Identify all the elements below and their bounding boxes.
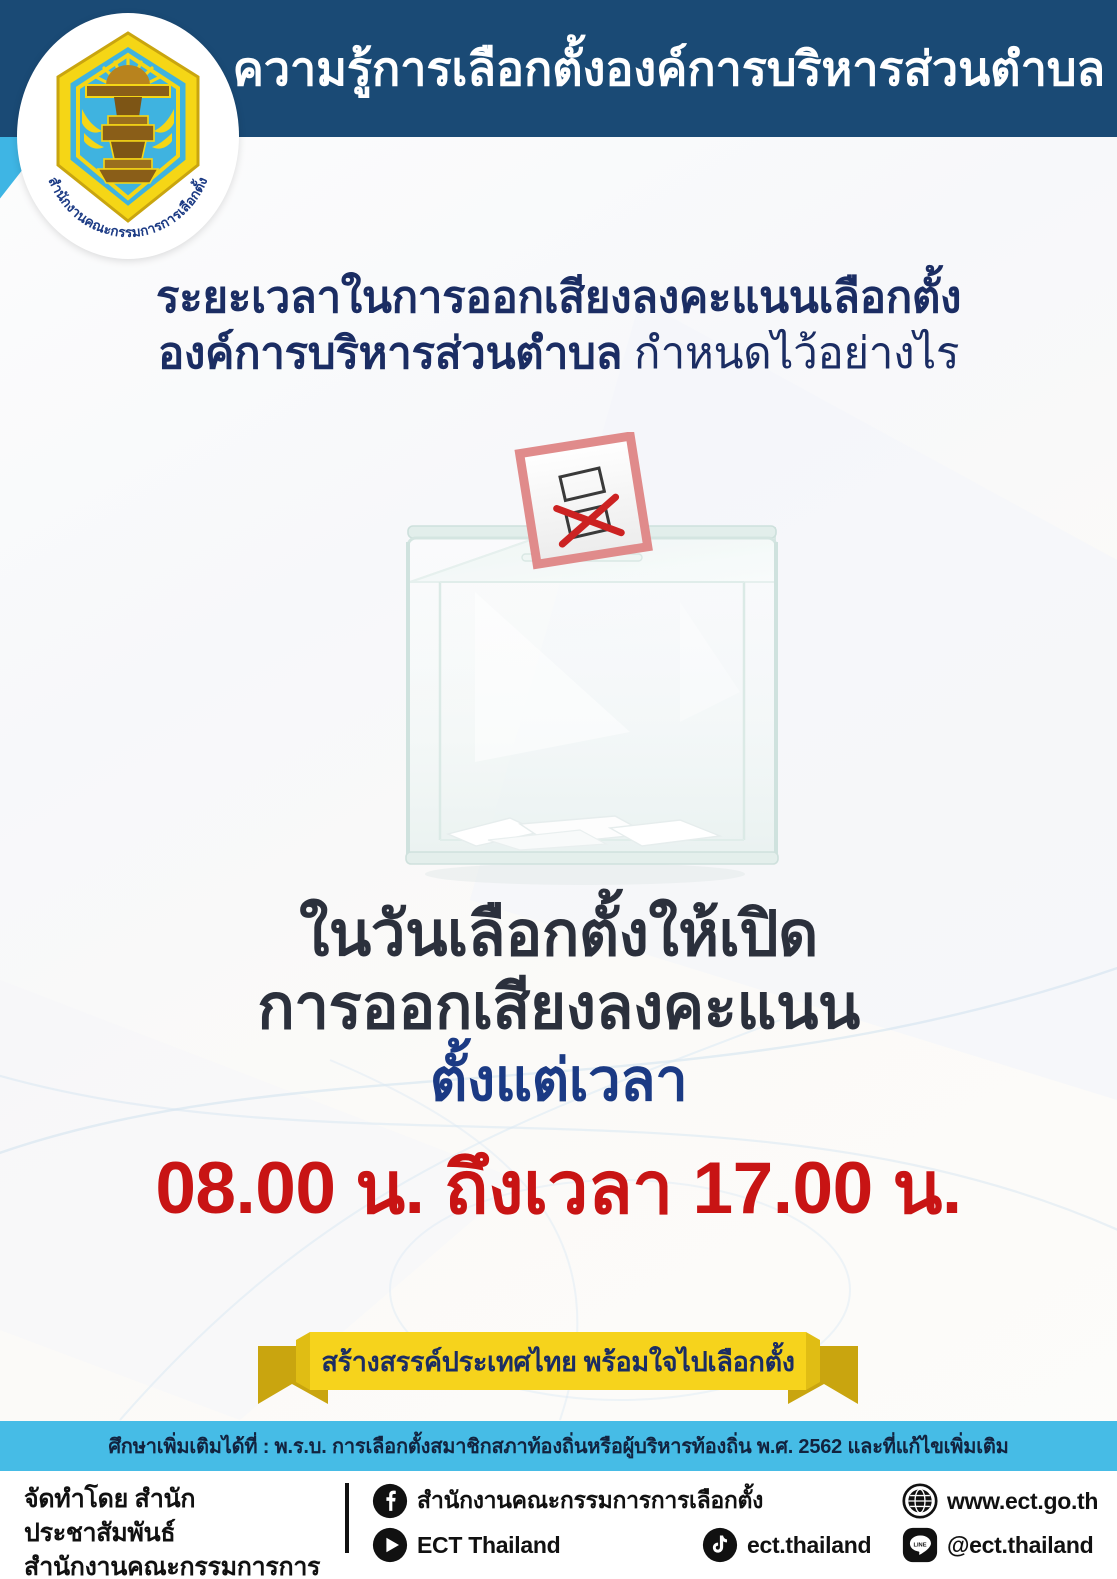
credit-line-1: จัดทำโดย สำนักประชาสัมพันธ์ [24,1483,324,1551]
answer-time-range: 08.00 น. ถึงเวลา 17.00 น. [0,1130,1117,1246]
youtube-icon[interactable] [372,1527,408,1563]
contact-youtube[interactable]: ECT Thailand [372,1527,702,1563]
reference-text: ศึกษาเพิ่มเติมได้ที่ : พ.ร.บ. การเลือกตั… [108,1430,1008,1462]
answer-line-1: ในวันเลือกตั้งให้เปิด [0,898,1117,971]
page-title: ความรู้การเลือกตั้งองค์การบริหารส่วนตำบล [248,0,1105,137]
ballot-slip [520,436,648,564]
credit-line-2: สำนักงานคณะกรรมการการเลือกตั้ง [24,1551,324,1579]
answer-block: ในวันเลือกตั้งให้เปิด การออกเสียงลงคะแนน… [0,898,1117,1246]
contact-facebook[interactable]: สำนักงานคณะกรรมการการเลือกตั้ง [372,1483,702,1519]
question-line-1: ระยะเวลาในการออกเสียงลงคะแนนเลือกตั้ง [0,272,1117,324]
contact-facebook-label: สำนักงานคณะกรรมการการเลือกตั้ง [417,1483,763,1519]
tiktok-icon[interactable] [702,1527,738,1563]
contact-grid: สำนักงานคณะกรรมการการเลือกตั้ง www.ect.g… [372,1479,1111,1567]
contact-tiktok[interactable]: ect.thailand [702,1527,902,1563]
contact-tiktok-label: ect.thailand [747,1532,871,1559]
answer-line-3: ตั้งแต่เวลา [0,1046,1117,1116]
question-line-2-bold: องค์การบริหารส่วนตำบล [158,329,622,378]
credit-block: จัดทำโดย สำนักประชาสัมพันธ์ สำนักงานคณะก… [24,1483,324,1579]
question-line-2: องค์การบริหารส่วนตำบล กำหนดไว้อย่างไร [0,328,1117,380]
globe-icon[interactable] [902,1483,938,1519]
line-icon[interactable]: LINE [902,1527,938,1563]
footer: จัดทำโดย สำนักประชาสัมพันธ์ สำนักงานคณะก… [0,1471,1117,1579]
reference-bar: ศึกษาเพิ่มเติมได้ที่ : พ.ร.บ. การเลือกตั… [0,1421,1117,1471]
ect-logo: สำนักงานคณะกรรมการการเลือกตั้ง [17,13,239,259]
question-line-2-regular: กำหนดไว้อย่างไร [622,329,959,378]
contact-website[interactable]: www.ect.go.th [902,1483,1117,1519]
ballot-box-illustration [380,432,790,892]
slogan-text: สร้างสรรค์ประเทศไทย พร้อมใจไปเลือกตั้ง [258,1332,858,1390]
poster-root: ความรู้การเลือกตั้งองค์การบริหารส่วนตำบล [0,0,1117,1579]
ballot-box-glass [406,526,778,864]
footer-divider [345,1483,349,1553]
contact-line[interactable]: LINE @ect.thailand [902,1527,1117,1563]
ect-thailand-emblem: สำนักงานคณะกรรมการการเลือกตั้ง [17,13,239,259]
question-block: ระยะเวลาในการออกเสียงลงคะแนนเลือกตั้ง อง… [0,272,1117,380]
answer-line-2: การออกเสียงลงคะแนน [0,971,1117,1044]
facebook-icon[interactable] [372,1483,408,1519]
contact-youtube-label: ECT Thailand [417,1532,560,1559]
contact-line-label: @ect.thailand [947,1532,1093,1559]
svg-text:LINE: LINE [913,1542,926,1548]
contact-website-label: www.ect.go.th [947,1488,1098,1515]
